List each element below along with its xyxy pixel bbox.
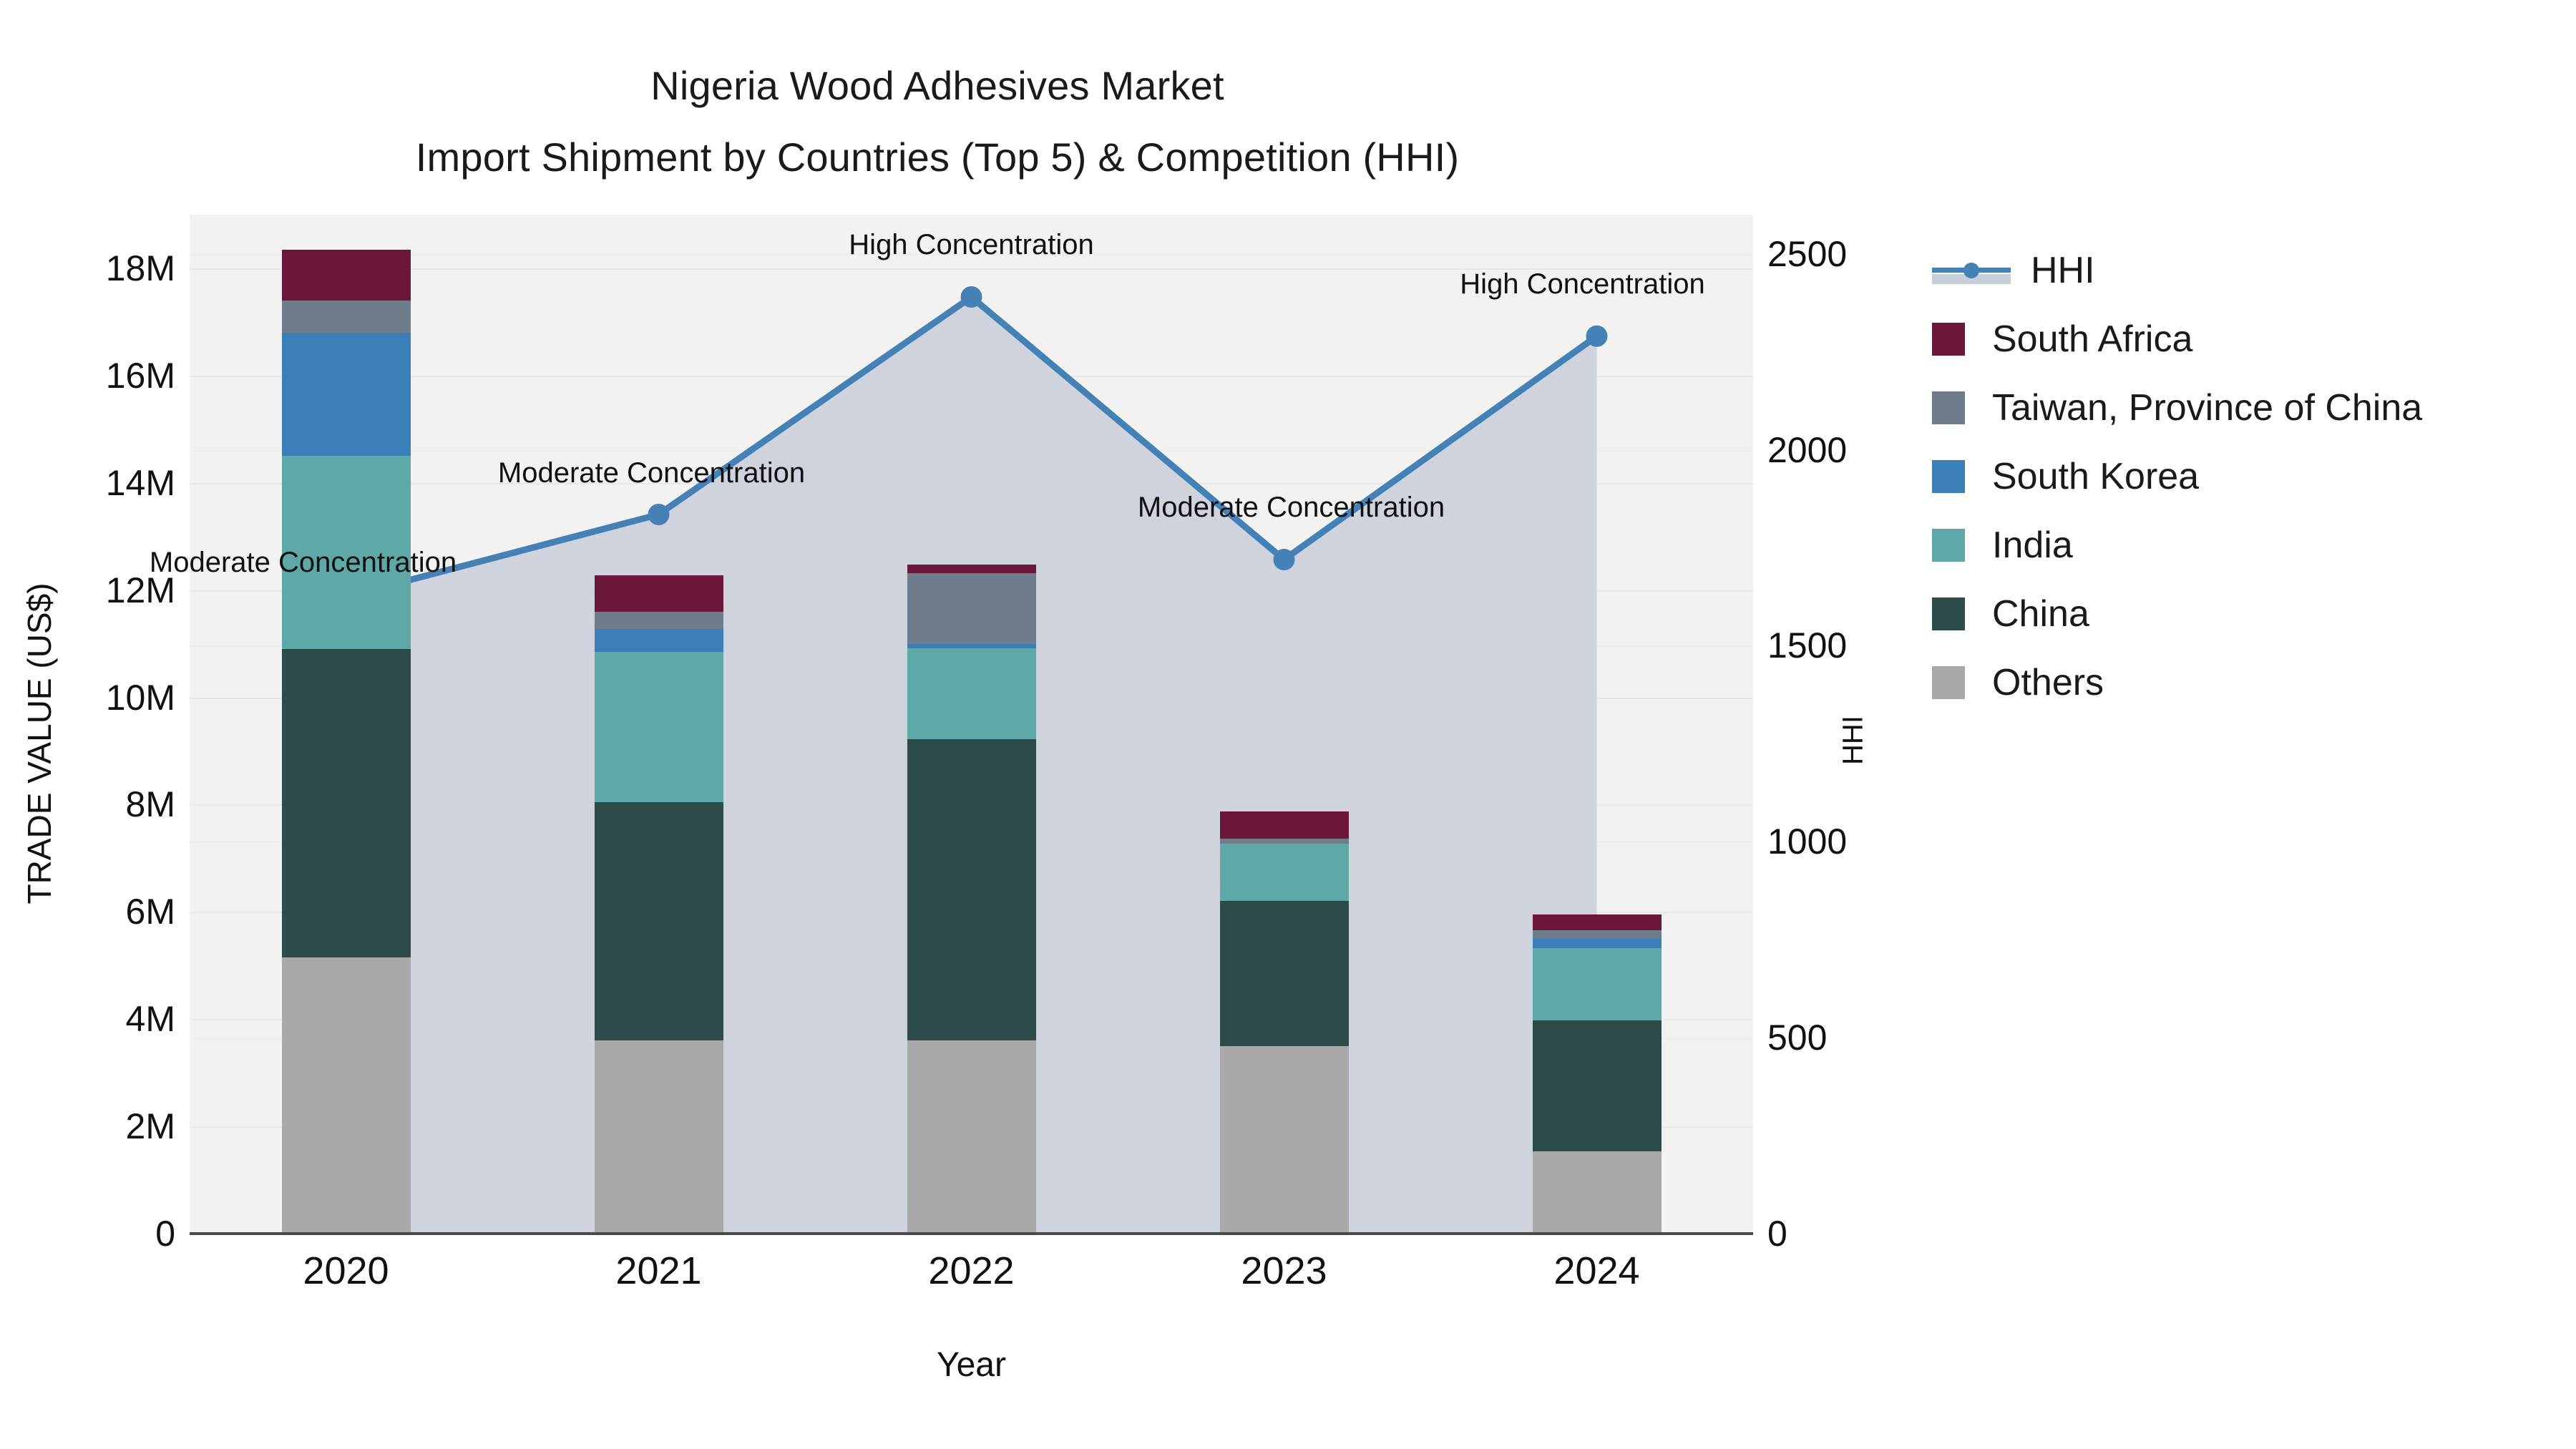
legend-item-label: India (1992, 524, 2073, 567)
legend-swatch-icon (1932, 323, 1965, 356)
bar-segment[interactable] (1533, 939, 1662, 948)
legend-swatch-icon (1932, 597, 1965, 630)
bar-segment[interactable] (1220, 901, 1349, 1045)
bar-segment[interactable] (282, 333, 411, 456)
hhi-annotation: High Concentration (849, 229, 1093, 261)
legend-item[interactable]: South Africa (1932, 305, 2422, 374)
chart-title-line-1: Nigeria Wood Adhesives Market (0, 50, 1875, 122)
bar-segment[interactable] (595, 1040, 723, 1234)
x-tick: 2022 (928, 1249, 1014, 1293)
legend-item-label: China (1992, 592, 2089, 635)
x-tick: 2024 (1553, 1249, 1639, 1293)
bar-stack[interactable] (282, 215, 411, 1234)
bar-segment[interactable] (1220, 811, 1349, 838)
bar-segment[interactable] (595, 612, 723, 630)
bar-segment[interactable] (282, 649, 411, 957)
legend-swatch-icon (1932, 666, 1965, 699)
bar-segment[interactable] (1533, 948, 1662, 1021)
legend: HHISouth AfricaTaiwan, Province of China… (1932, 236, 2422, 717)
x-axis-label: Year (190, 1345, 1753, 1385)
chart-title: Nigeria Wood Adhesives Market Import Shi… (0, 50, 1875, 193)
y-tick-left: 2M (0, 1106, 175, 1147)
bar-segment[interactable] (907, 644, 1036, 648)
hhi-annotation: High Concentration (1460, 268, 1704, 301)
hhi-annotation: Moderate Concentration (498, 457, 805, 489)
bar-segment[interactable] (595, 802, 723, 1041)
legend-swatch-icon (1932, 529, 1965, 562)
legend-swatch-icon (1932, 460, 1965, 493)
bar-segment[interactable] (907, 573, 1036, 644)
bar-segment[interactable] (1533, 930, 1662, 939)
legend-line-marker-icon (1932, 254, 2011, 287)
legend-item[interactable]: India (1932, 511, 2422, 580)
bar-segment[interactable] (907, 1040, 1036, 1234)
x-tick: 2021 (615, 1249, 701, 1293)
bar-segment[interactable] (282, 250, 411, 301)
x-axis-line (190, 1232, 1753, 1235)
bar-segment[interactable] (595, 575, 723, 612)
bar-stack[interactable] (595, 215, 723, 1234)
legend-item-label: Taiwan, Province of China (1992, 386, 2422, 429)
bar-segment[interactable] (595, 652, 723, 802)
y-tick-left: 18M (0, 248, 175, 289)
plot-area (190, 215, 1753, 1234)
y-tick-right: 0 (1767, 1213, 1911, 1254)
y-tick-right: 2000 (1767, 429, 1911, 471)
hhi-annotation: Moderate Concentration (150, 547, 457, 579)
bar-segment[interactable] (1220, 844, 1349, 901)
bar-segment[interactable] (907, 565, 1036, 572)
x-tick: 2020 (303, 1249, 389, 1293)
y-tick-left: 0 (0, 1213, 175, 1254)
legend-item[interactable]: HHI (1932, 236, 2422, 305)
legend-item-label: HHI (2031, 249, 2095, 292)
chart-title-line-2: Import Shipment by Countries (Top 5) & C… (0, 122, 1875, 193)
y-tick-right: 2500 (1767, 233, 1911, 275)
bar-segment[interactable] (1533, 914, 1662, 930)
legend-item-label: Others (1992, 661, 2104, 704)
x-tick: 2023 (1241, 1249, 1327, 1293)
legend-item[interactable]: Others (1932, 648, 2422, 717)
legend-item[interactable]: South Korea (1932, 442, 2422, 511)
bar-stack[interactable] (1220, 215, 1349, 1234)
legend-item[interactable]: China (1932, 580, 2422, 648)
y-axis-right-label: HHI (1838, 597, 1870, 884)
bar-segment[interactable] (282, 301, 411, 333)
bar-segment[interactable] (907, 648, 1036, 739)
hhi-annotation: Moderate Concentration (1138, 492, 1445, 524)
legend-item-label: South Korea (1992, 455, 2199, 498)
legend-item-label: South Africa (1992, 318, 2192, 361)
bar-stack[interactable] (907, 215, 1036, 1234)
bar-segment[interactable] (1220, 839, 1349, 844)
bar-segment[interactable] (1533, 1151, 1662, 1234)
legend-item[interactable]: Taiwan, Province of China (1932, 374, 2422, 442)
y-tick-right: 500 (1767, 1017, 1911, 1058)
y-tick-left: 16M (0, 355, 175, 396)
bar-segment[interactable] (282, 957, 411, 1234)
bar-segment[interactable] (595, 629, 723, 651)
bar-segment[interactable] (1220, 1046, 1349, 1234)
legend-swatch-icon (1932, 391, 1965, 424)
chart-canvas: Nigeria Wood Adhesives Market Import Shi… (0, 0, 2576, 1449)
y-axis-left-label: TRADE VALUE (US$) (20, 457, 59, 1030)
bar-segment[interactable] (907, 739, 1036, 1040)
bar-stack[interactable] (1533, 215, 1662, 1234)
bar-segment[interactable] (1533, 1020, 1662, 1151)
